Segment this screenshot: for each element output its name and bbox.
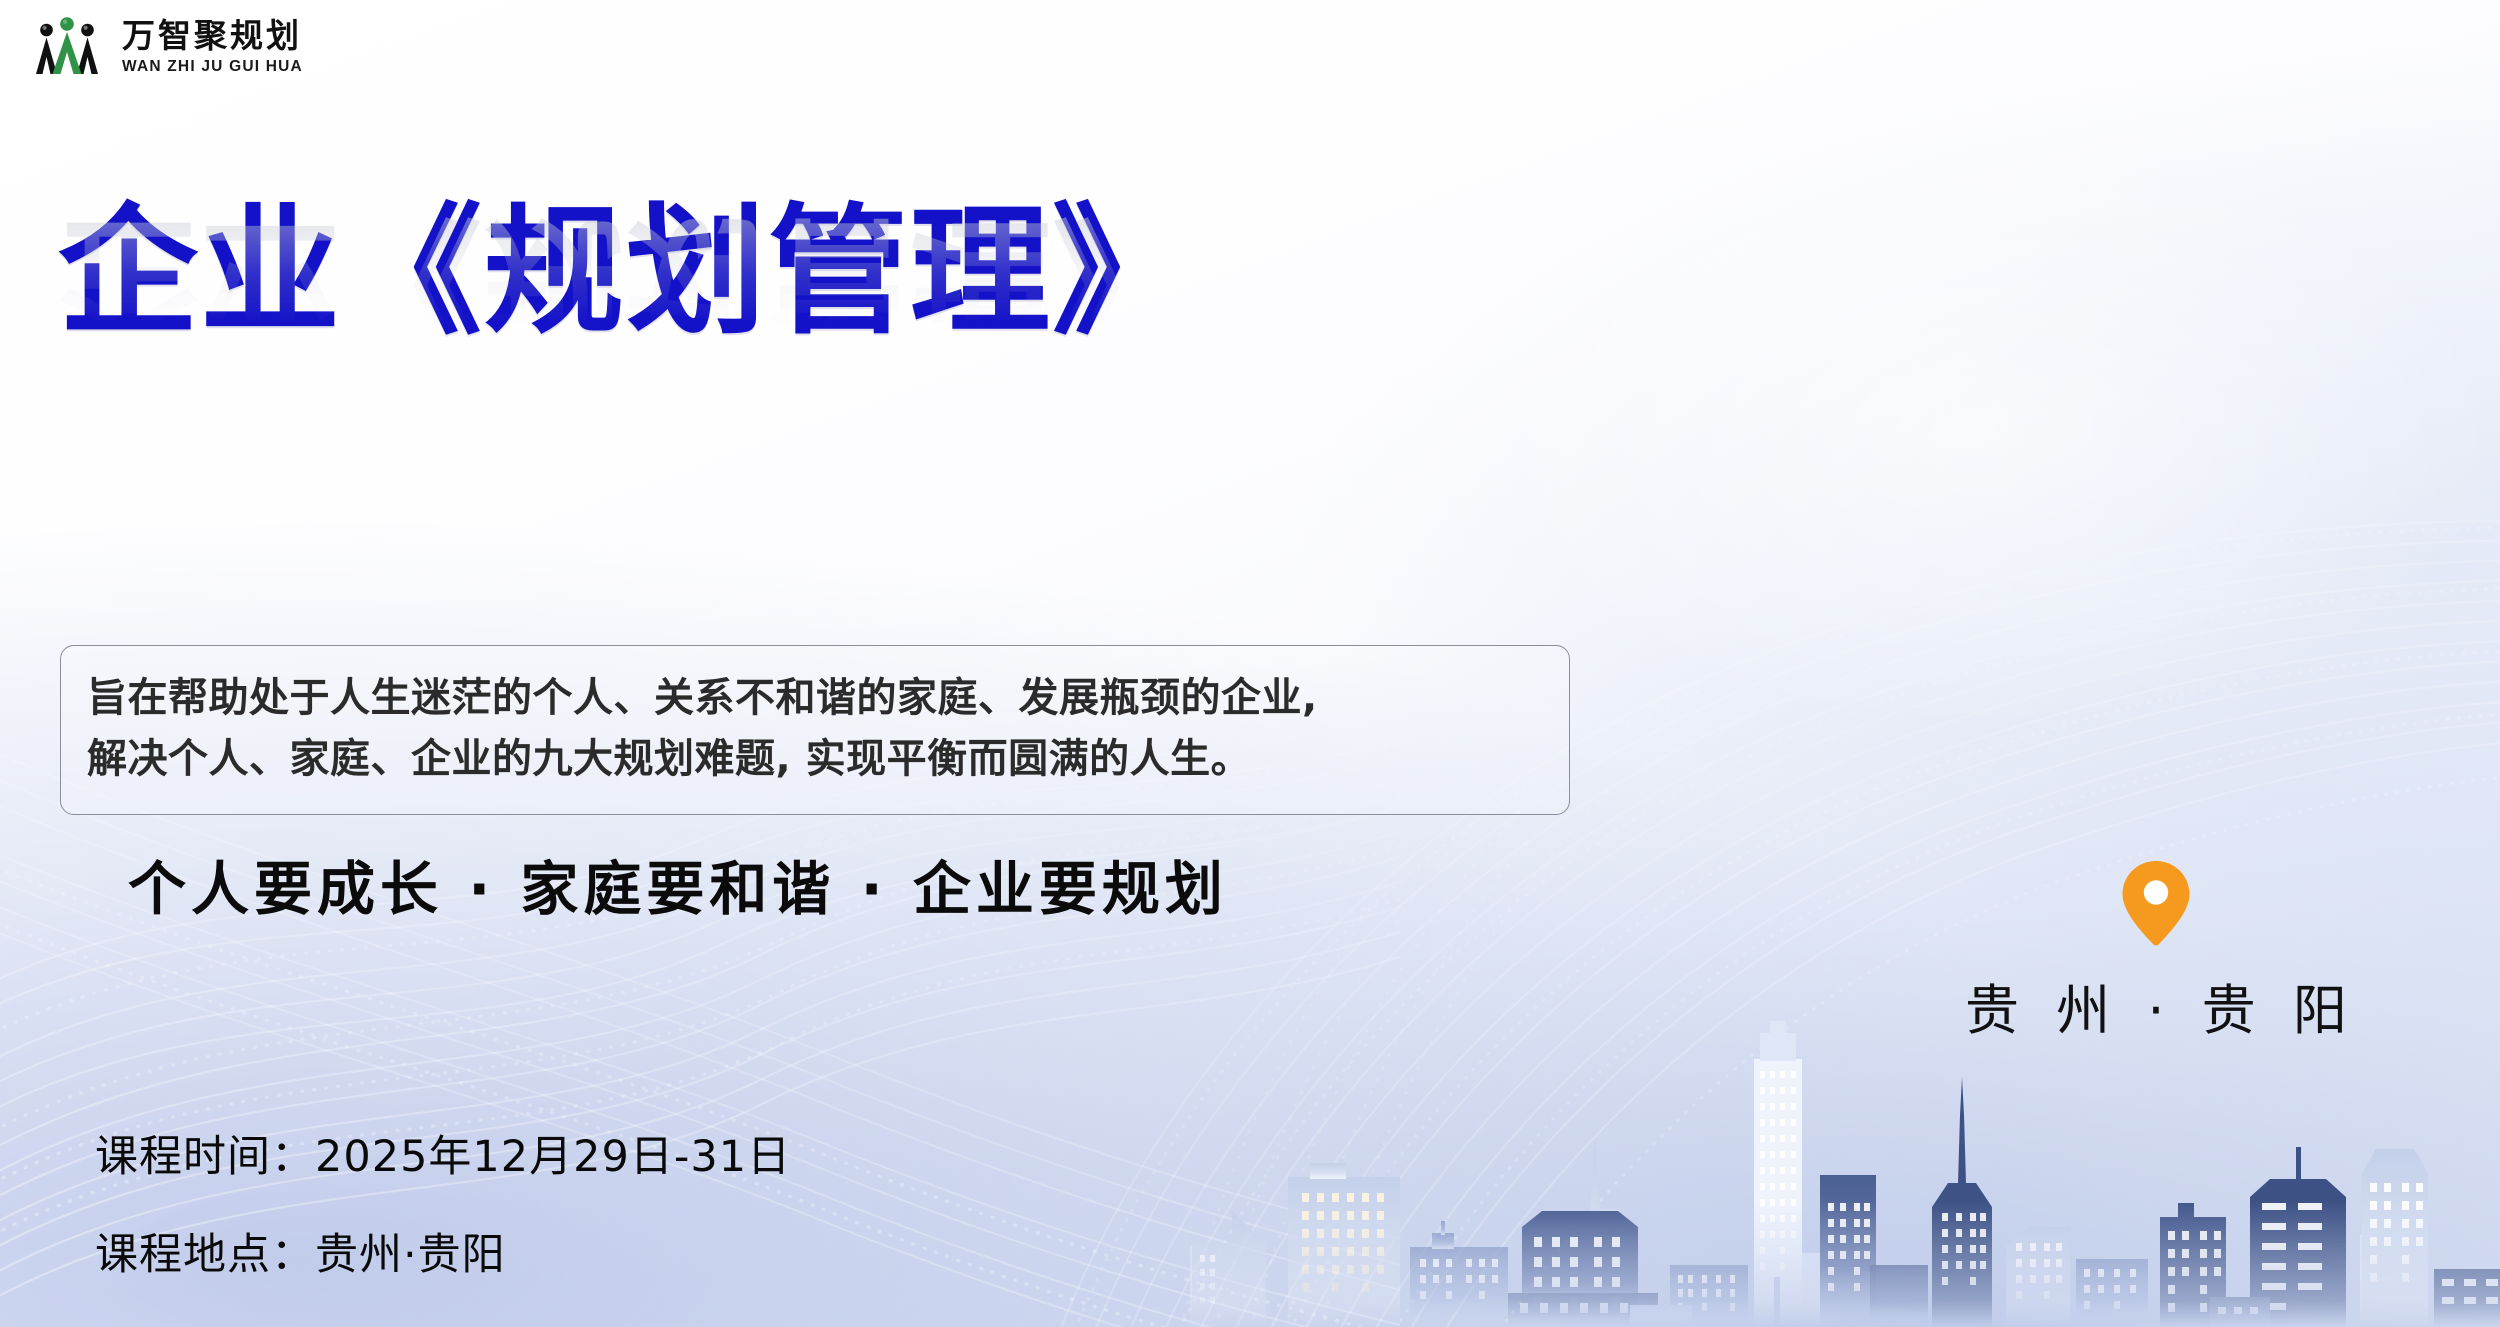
- hero-title-group: 企业《规划管理》 企业《规划管理》: [58, 196, 1194, 510]
- description-line-2: 解决个人、家庭、企业的九大规划难题, 实现平衡而圆满的人生。: [87, 729, 1543, 790]
- brand-name-cn: 万智聚规划: [122, 19, 303, 52]
- course-info-group: 课程时间：2025年12月29日-31日 课程地点：贵州·贵阳: [95, 1122, 791, 1318]
- location-group: 贵 州 · 贵 阳: [1955, 860, 2357, 1045]
- brand-name-pinyin: WAN ZHI JU GUI HUA: [122, 59, 303, 75]
- slogan-text: 个人要成长 · 家庭要和谐 · 企业要规划: [128, 842, 1228, 926]
- brand-logo[interactable]: 万智聚规划 WAN ZHI JU GUI HUA: [28, 14, 303, 80]
- course-time: 课程时间：2025年12月29日-31日: [95, 1122, 791, 1184]
- description-box: 旨在帮助处于人生迷茫的个人、关系不和谐的家庭、发展瓶颈的企业, 解决个人、家庭、…: [60, 645, 1570, 815]
- description-line-1: 旨在帮助处于人生迷茫的个人、关系不和谐的家庭、发展瓶颈的企业,: [87, 668, 1543, 729]
- course-place: 课程地点：贵州·贵阳: [95, 1220, 791, 1282]
- brand-name-group: 万智聚规划 WAN ZHI JU GUI HUA: [122, 19, 303, 75]
- poster-canvas: 万智聚规划 WAN ZHI JU GUI HUA 企业《规划管理》 企业《规划管…: [0, 0, 2500, 1327]
- map-pin-icon: [2120, 860, 2192, 946]
- three-people-mountain-logo-icon: [28, 14, 106, 80]
- page-title-reflection: 企业《规划管理》: [58, 202, 1194, 356]
- location-city-text: 贵 州 · 贵 阳: [1955, 966, 2357, 1045]
- city-skyline-icon: [1170, 997, 2500, 1327]
